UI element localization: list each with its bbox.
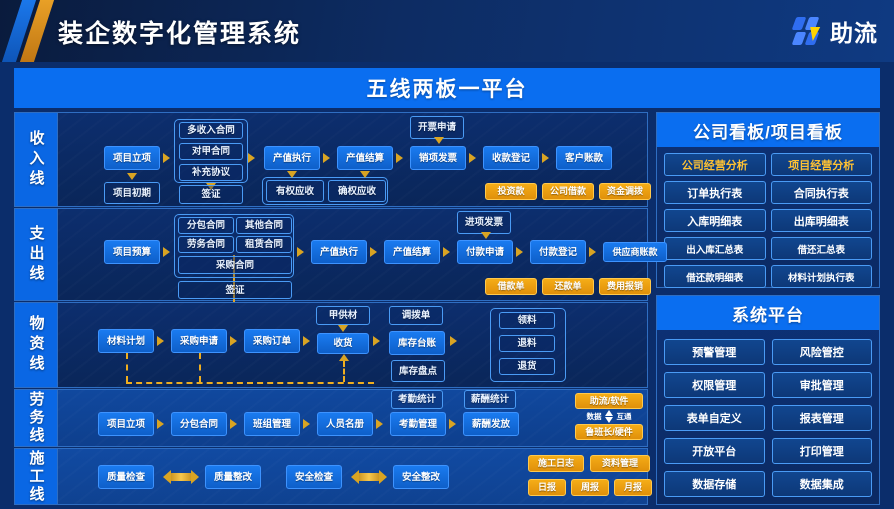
- node-material-transfer-slip[interactable]: 调拨单: [389, 306, 443, 325]
- node-labor-team-mgmt[interactable]: 班组管理: [244, 412, 300, 436]
- node-expense-payment-register[interactable]: 付款登记: [530, 240, 586, 264]
- node-material-stock-count[interactable]: 库存盘点: [391, 360, 445, 382]
- arrow-right-labor-5-icon: [449, 419, 456, 429]
- panel-system-platform: 系统平台 预警管理 风险管控 权限管理 审批管理 表单自定义 报表管理 开放平台…: [656, 295, 880, 505]
- tag-expense-loan-slip[interactable]: 借款单: [485, 278, 537, 295]
- tag-construction-daily-report[interactable]: 日报: [528, 479, 566, 496]
- node-material-purchase-order[interactable]: 采购订单: [244, 329, 300, 353]
- panel-item-open-platform[interactable]: 开放平台: [664, 438, 765, 464]
- node-income-output-settle[interactable]: 产值结算: [337, 146, 393, 170]
- node-labor-attendance-stats[interactable]: 考勤统计: [391, 390, 443, 409]
- node-labor-salary-pay[interactable]: 薪酬发放: [463, 412, 519, 436]
- double-arrow-safety-icon: [358, 473, 380, 481]
- panel-item-inout-summary[interactable]: 出入库汇总表: [664, 237, 766, 260]
- tag-income-fund-transfer[interactable]: 资金调拨: [599, 183, 651, 200]
- node-expense-output-execute[interactable]: 产值执行: [311, 240, 367, 264]
- arrow-right-labor-1-icon: [157, 419, 164, 429]
- panel-item-report-mgmt[interactable]: 报表管理: [772, 405, 873, 431]
- panel-item-outbound-detail[interactable]: 出库明细表: [771, 209, 873, 232]
- node-material-stock-ledger[interactable]: 库存台账: [389, 331, 445, 355]
- flow-row-labor-body: 项目立项 分包合同 班组管理 人员名册 考勤统计 考勤管理 薪酬统计 薪酬发放 …: [58, 390, 647, 446]
- arrow-right-labor-2-icon: [230, 419, 237, 429]
- arrow-right-material-1-icon: [157, 336, 164, 346]
- node-income-multi-contract[interactable]: 多收入合同: [179, 122, 243, 139]
- node-expense-purchase-contract[interactable]: 采购合同: [178, 256, 292, 274]
- dash-material-v3: [343, 361, 345, 382]
- panel-item-loan-summary[interactable]: 借还汇总表: [771, 237, 873, 260]
- node-material-issue[interactable]: 领料: [499, 312, 555, 329]
- node-expense-lease-contract[interactable]: 租赁合同: [236, 236, 292, 253]
- node-income-confirmed-receivable[interactable]: 确权应收: [328, 180, 386, 202]
- node-material-plan[interactable]: 材料计划: [98, 329, 154, 353]
- node-material-return-goods[interactable]: 退货: [499, 358, 555, 375]
- labor-sync-right-label: 互通: [617, 411, 632, 422]
- arrow-right-income-5-icon: [469, 153, 476, 163]
- arrow-down-income-1-icon: [127, 173, 137, 180]
- node-expense-payment-request[interactable]: 付款申请: [457, 240, 513, 264]
- flow-row-expense-body: 项目预算 分包合同 其他合同 劳务合同 租赁合同 采购合同 签证 产值执行 产值…: [58, 209, 647, 300]
- node-construction-quality-check[interactable]: 质量检查: [98, 465, 154, 489]
- row-label-construction: 施工线: [15, 449, 58, 504]
- panel-dashboards: 公司看板/项目看板 公司经营分析 项目经营分析 订单执行表 合同执行表 入库明细…: [656, 112, 880, 288]
- node-income-receipt-register[interactable]: 收款登记: [483, 146, 539, 170]
- panel-dashboards-header: 公司看板/项目看板: [657, 113, 879, 147]
- arrow-up-material-icon: [339, 354, 349, 361]
- arrow-right-income-4-icon: [396, 153, 403, 163]
- panel-system-grid: 预警管理 风险管控 权限管理 审批管理 表单自定义 报表管理 开放平台 打印管理…: [657, 330, 879, 506]
- node-labor-salary-stats[interactable]: 薪酬统计: [464, 390, 516, 409]
- panel-item-print-mgmt[interactable]: 打印管理: [772, 438, 873, 464]
- node-labor-subcontract[interactable]: 分包合同: [171, 412, 227, 436]
- node-labor-project-setup[interactable]: 项目立项: [98, 412, 154, 436]
- node-labor-staff-roster[interactable]: 人员名册: [317, 412, 373, 436]
- row-label-expense: 支出线: [15, 209, 58, 300]
- flow-row-income-body: 项目立项 项目初期 多收入合同 对甲合同 补充协议 签证 产值执行 有权应收 产…: [58, 113, 647, 206]
- arrow-right-income-1-icon: [163, 153, 170, 163]
- dash-material-v1: [126, 353, 128, 382]
- arrow-down-income-4-icon: [360, 171, 370, 178]
- node-income-sales-invoice[interactable]: 销项发票: [410, 146, 466, 170]
- node-expense-output-settle[interactable]: 产值结算: [384, 240, 440, 264]
- labor-sync-left-label: 数据: [587, 411, 602, 422]
- tag-labor-zhuliu-software[interactable]: 助流/软件: [575, 393, 643, 409]
- panel-item-permission-mgmt[interactable]: 权限管理: [664, 372, 765, 398]
- arrow-right-labor-4-icon: [376, 419, 383, 429]
- node-income-project-setup[interactable]: 项目立项: [104, 146, 160, 170]
- dashboard-page: 装企数字化管理系统 助流 五线两板一平台 收入线 项目立项 项目初期: [0, 0, 894, 509]
- panel-dashboards-title: 公司看板/项目看板: [693, 118, 843, 143]
- row-label-labor: 劳务线: [15, 390, 58, 446]
- zhuliu-bolt-logo-icon: [793, 16, 823, 46]
- node-expense-subcontract[interactable]: 分包合同: [178, 217, 234, 234]
- arrow-down-income-5-icon: [434, 137, 444, 144]
- tag-labor-luban-hardware[interactable]: 鲁班长/硬件: [575, 424, 643, 440]
- tag-expense-repay-slip[interactable]: 还款单: [542, 278, 594, 295]
- arrow-right-expense-6-icon: [589, 247, 596, 257]
- panel-item-order-execution[interactable]: 订单执行表: [664, 181, 766, 204]
- double-arrow-quality-icon: [170, 473, 192, 481]
- node-construction-quality-fix[interactable]: 质量整改: [205, 465, 261, 489]
- node-material-owner-supply[interactable]: 甲供材: [316, 306, 370, 325]
- arrow-right-material-2-icon: [230, 336, 237, 346]
- arrow-right-expense-4-icon: [443, 247, 450, 257]
- panel-item-alert-mgmt[interactable]: 预警管理: [664, 339, 765, 365]
- panel-item-material-plan-execution[interactable]: 材料计划执行表: [771, 265, 873, 288]
- node-expense-visa[interactable]: 签证: [178, 281, 292, 299]
- flow-row-material: 物资线 材料计划 采购申请 采购订单 甲供材 收货 调拨单 库存台账 库存盘点 …: [14, 302, 648, 388]
- panel-system-header: 系统平台: [657, 296, 879, 330]
- tag-income-investment[interactable]: 投资款: [485, 183, 537, 200]
- arrow-right-material-3-icon: [303, 336, 310, 346]
- dash-material-v2: [199, 353, 201, 382]
- flow-row-income: 收入线 项目立项 项目初期 多收入合同 对甲合同 补充协议 签证 产值执行 有权…: [14, 112, 648, 207]
- row-label-income: 收入线: [15, 113, 58, 206]
- panel-item-loan-detail[interactable]: 借还款明细表: [664, 265, 766, 288]
- panel-item-form-customization[interactable]: 表单自定义: [664, 405, 765, 431]
- app-header: 装企数字化管理系统 助流: [0, 0, 894, 62]
- arrow-right-expense-2-icon: [297, 247, 304, 257]
- arrow-right-income-3-icon: [323, 153, 330, 163]
- tag-construction-monthly-report[interactable]: 月报: [614, 479, 652, 496]
- node-income-project-initial[interactable]: 项目初期: [104, 182, 160, 204]
- panel-item-data-integration[interactable]: 数据集成: [772, 471, 873, 497]
- flow-row-construction-body: 质量检查 质量整改 安全检查 安全整改 施工日志 资料管理 日报 周报 月报: [58, 449, 647, 504]
- panel-dashboards-grid: 公司经营分析 项目经营分析 订单执行表 合同执行表 入库明细表 出库明细表 出入…: [657, 147, 879, 294]
- tag-construction-site-log[interactable]: 施工日志: [528, 455, 584, 472]
- flow-row-construction: 施工线 质量检查 质量整改 安全检查 安全整改 施工日志 资料管理 日报 周报 …: [14, 448, 648, 505]
- labor-data-sync-label: 数据 互通: [587, 410, 632, 423]
- panel-system-title: 系统平台: [732, 301, 804, 326]
- node-material-return-issue[interactable]: 退料: [499, 335, 555, 352]
- node-material-purchase-request[interactable]: 采购申请: [171, 329, 227, 353]
- node-income-supplement-agreement[interactable]: 补充协议: [179, 164, 243, 181]
- node-expense-supplier-account[interactable]: 供应商账款: [603, 242, 667, 262]
- sync-updown-arrow-icon: [605, 410, 614, 423]
- tag-expense-reimbursement[interactable]: 费用报销: [599, 278, 651, 295]
- labor-data-sync-block: 助流/软件 数据 互通 鲁班长/硬件: [567, 393, 651, 440]
- flow-row-labor: 劳务线 项目立项 分包合同 班组管理 人员名册 考勤统计 考勤管理 薪酬统计 薪…: [14, 389, 648, 447]
- node-income-invoice-request[interactable]: 开票申请: [410, 116, 464, 139]
- node-expense-other-contract[interactable]: 其他合同: [236, 217, 292, 234]
- arrow-right-expense-1-icon: [163, 247, 170, 257]
- arrow-down-income-3-icon: [287, 171, 297, 178]
- panel-item-project-analysis[interactable]: 项目经营分析: [771, 153, 873, 176]
- panel-item-company-analysis[interactable]: 公司经营分析: [664, 153, 766, 176]
- node-labor-attendance-mgmt[interactable]: 考勤管理: [390, 412, 446, 436]
- node-income-entitled-receivable[interactable]: 有权应收: [266, 180, 324, 202]
- arrow-right-expense-5-icon: [516, 247, 523, 257]
- panel-item-data-storage[interactable]: 数据存储: [664, 471, 765, 497]
- node-expense-labor-contract[interactable]: 劳务合同: [178, 236, 234, 253]
- node-construction-safety-check[interactable]: 安全检查: [286, 465, 342, 489]
- panel-item-risk-control[interactable]: 风险管控: [772, 339, 873, 365]
- tag-construction-doc-mgmt[interactable]: 资料管理: [590, 455, 650, 472]
- node-material-receive[interactable]: 收货: [317, 333, 369, 354]
- arrow-right-income-6-icon: [542, 153, 549, 163]
- tag-income-company-loan[interactable]: 公司借款: [542, 183, 594, 200]
- node-construction-safety-fix[interactable]: 安全整改: [393, 465, 449, 489]
- flow-area: 收入线 项目立项 项目初期 多收入合同 对甲合同 补充协议 签证 产值执行 有权…: [14, 112, 648, 505]
- arrow-right-expense-3-icon: [370, 247, 377, 257]
- node-income-customer-account[interactable]: 客户账款: [556, 146, 612, 170]
- brand-logo: 助流: [793, 14, 878, 48]
- arrow-down-expense-1-icon: [481, 232, 491, 239]
- dash-material-h: [126, 382, 374, 384]
- tag-construction-weekly-report[interactable]: 周报: [571, 479, 609, 496]
- arrow-right-labor-3-icon: [303, 419, 310, 429]
- panel-item-contract-execution[interactable]: 合同执行表: [771, 181, 873, 204]
- node-income-output-execute[interactable]: 产值执行: [264, 146, 320, 170]
- node-expense-input-invoice[interactable]: 进项发票: [457, 211, 511, 234]
- section-banner: 五线两板一平台: [14, 68, 880, 108]
- row-label-material: 物资线: [15, 303, 58, 387]
- banner-title: 五线两板一平台: [367, 73, 528, 103]
- node-expense-project-budget[interactable]: 项目预算: [104, 240, 160, 264]
- flow-row-expense: 支出线 项目预算 分包合同 其他合同 劳务合同 租赁合同 采购合同 签证 产值执…: [14, 208, 648, 301]
- arrow-right-material-4-icon: [373, 336, 380, 346]
- panel-item-inbound-detail[interactable]: 入库明细表: [664, 209, 766, 232]
- arrow-right-material-5-icon: [450, 336, 457, 346]
- panel-item-approval-mgmt[interactable]: 审批管理: [772, 372, 873, 398]
- arrow-down-material-1-icon: [338, 325, 348, 332]
- page-title: 装企数字化管理系统: [58, 14, 301, 50]
- brand-name: 助流: [830, 14, 878, 48]
- flow-row-material-body: 材料计划 采购申请 采购订单 甲供材 收货 调拨单 库存台账 库存盘点 领料 退…: [58, 303, 647, 387]
- node-income-visa[interactable]: 签证: [179, 185, 243, 204]
- arrow-right-income-2-icon: [248, 153, 255, 163]
- node-income-owner-contract[interactable]: 对甲合同: [179, 143, 243, 160]
